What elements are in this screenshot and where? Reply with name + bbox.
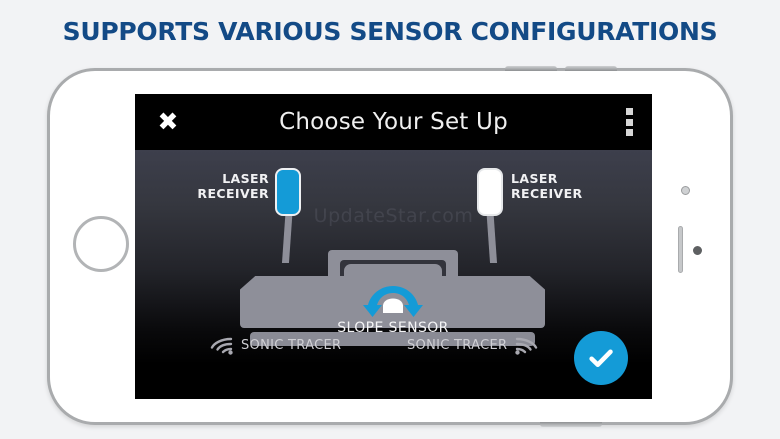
check-icon [586,343,616,373]
phone-device-frame: ✖ Choose Your Set Up UpdateStar.com LASE… [47,68,733,425]
sonic-tracer-right[interactable]: SONIC TRACER [407,335,539,355]
slope-sensor-label: SLOPE SENSOR [313,320,473,336]
app-bar-title: Choose Your Set Up [135,94,652,150]
volume-up-button[interactable] [505,66,557,71]
app-bar: ✖ Choose Your Set Up [135,94,652,150]
setup-illustration: UpdateStar.com LASER RECEIVER LASER RECE… [135,150,652,399]
sonic-tracer-right-label: SONIC TRACER [407,338,507,353]
home-button[interactable] [73,216,129,272]
sonic-wave-icon [513,335,539,355]
sonic-wave-icon [209,335,235,355]
speaker-grille-icon [678,226,683,273]
laser-receiver-right[interactable] [477,168,503,216]
slope-arc-arrows-icon [362,283,424,319]
phone-screen: ✖ Choose Your Set Up UpdateStar.com LASE… [135,94,652,399]
microphone-dot-icon [693,246,702,255]
volume-down-button[interactable] [565,66,617,71]
label-line-2: RECEIVER [187,186,269,201]
confirm-button[interactable] [574,331,628,385]
page-title: SUPPORTS VARIOUS SENSOR CONFIGURATIONS [0,0,780,62]
laser-receiver-left-label: LASER RECEIVER [187,171,269,201]
label-line-2: RECEIVER [511,186,611,201]
power-button[interactable] [540,422,602,427]
laser-receiver-right-label: LASER RECEIVER [511,171,611,201]
laser-receiver-left[interactable] [275,168,301,216]
sonic-tracer-left[interactable]: SONIC TRACER [209,335,341,355]
overflow-dot [626,108,633,115]
sonic-tracer-left-label: SONIC TRACER [241,338,341,353]
camera-icon [681,186,690,195]
overflow-menu-icon[interactable] [620,108,638,136]
label-line-1: LASER [187,171,269,186]
label-line-1: LASER [511,171,611,186]
overflow-dot [626,129,633,136]
watermark-text: UpdateStar.com [135,205,652,227]
slope-sensor[interactable]: SLOPE SENSOR [313,283,473,343]
overflow-dot [626,119,633,126]
